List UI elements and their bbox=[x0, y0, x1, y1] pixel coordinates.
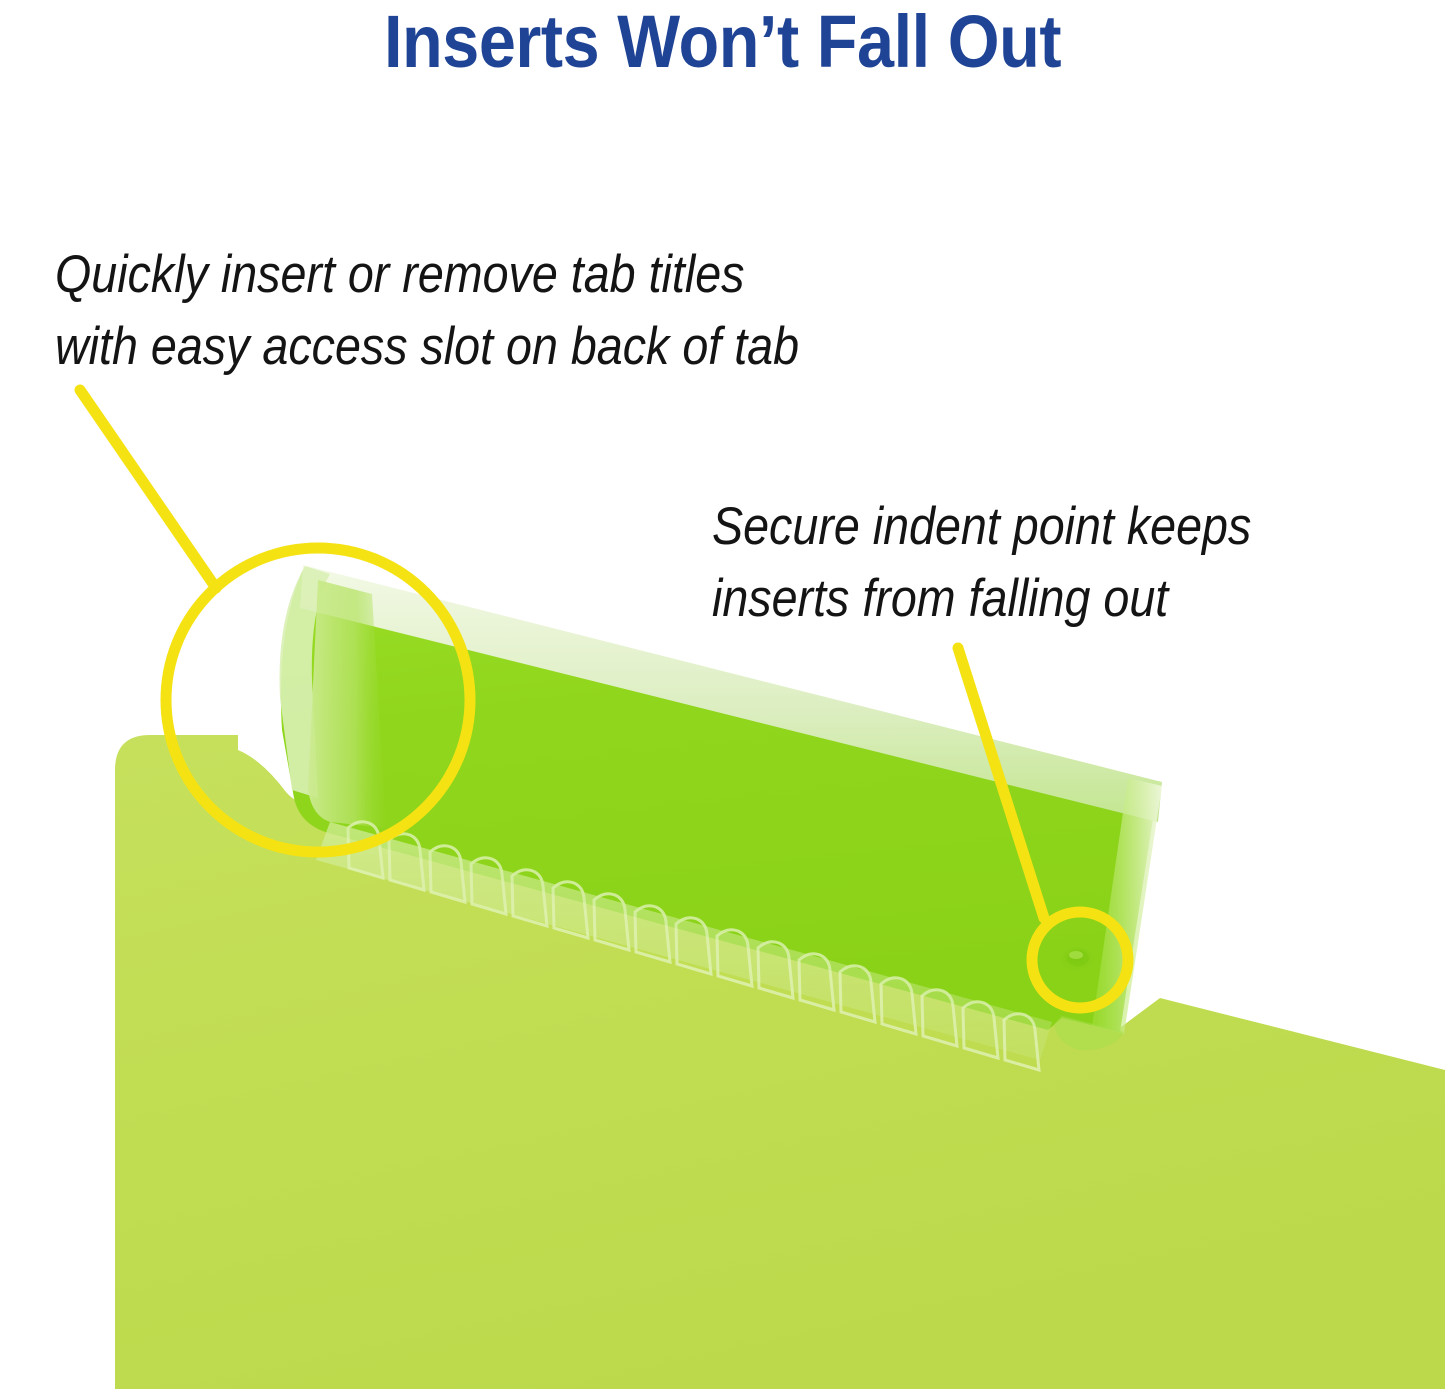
callout-indent-point-line1: Secure indent point keeps bbox=[712, 491, 1251, 563]
product-infographic: Inserts Won’t Fall Out bbox=[0, 0, 1445, 1389]
callout-slot-access-line2: with easy access slot on back of tab bbox=[55, 311, 799, 383]
callout-indent-point: Secure indent point keeps inserts from f… bbox=[712, 491, 1251, 635]
callout-slot-access: Quickly insert or remove tab titles with… bbox=[55, 239, 799, 383]
callout-slot-access-line1: Quickly insert or remove tab titles bbox=[55, 239, 799, 311]
callout-indent-point-line2: inserts from falling out bbox=[712, 563, 1251, 635]
indent-point bbox=[1061, 947, 1095, 973]
page-title: Inserts Won’t Fall Out bbox=[72, 2, 1373, 82]
